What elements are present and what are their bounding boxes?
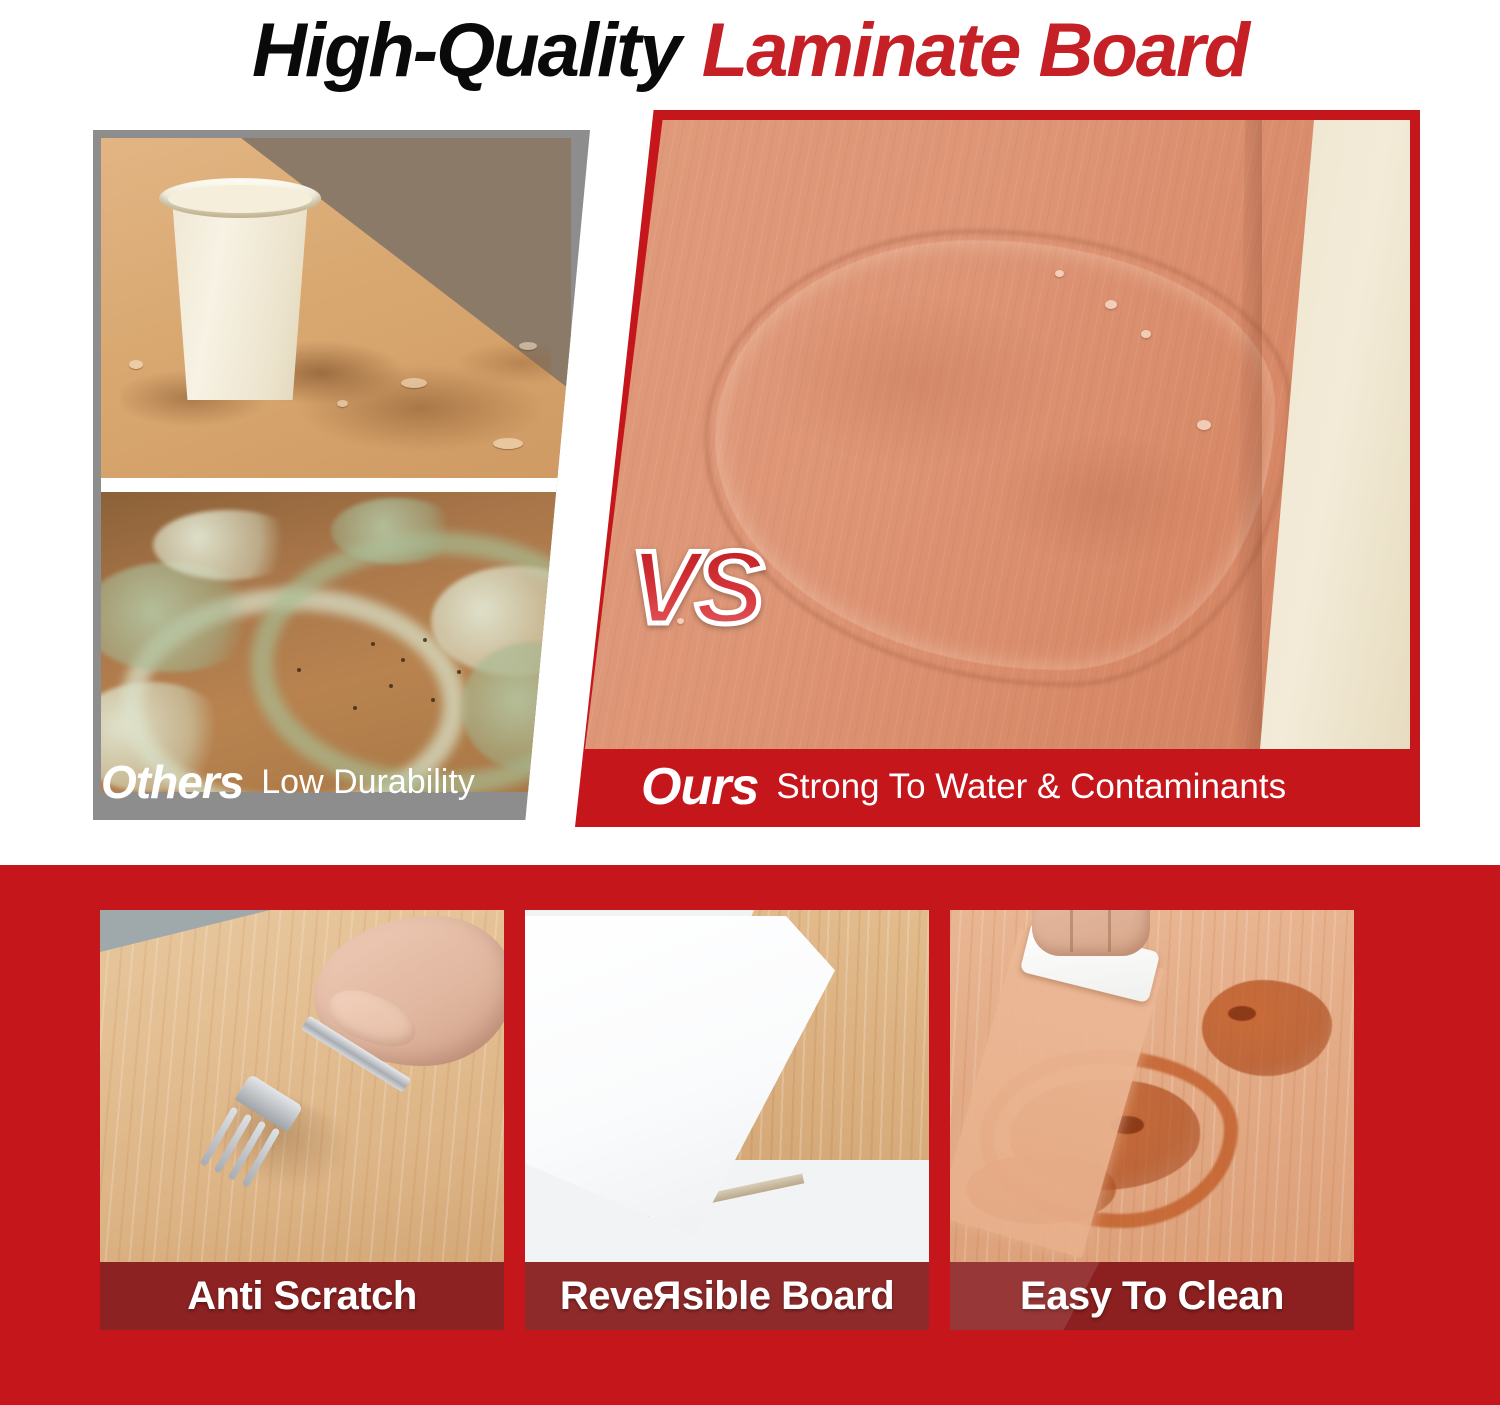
photo-divider: [101, 478, 571, 492]
product-infographic: High-Quality Laminate Board: [0, 0, 1500, 1405]
mirrored-r-glyph: R: [653, 1274, 681, 1319]
page-title: High-Quality Laminate Board: [0, 0, 1500, 100]
paper-cup-rim: [159, 178, 321, 218]
feature-caption-text: Easy To Clean: [1020, 1274, 1284, 1319]
water-bead: [1141, 330, 1151, 338]
feature-card-easy-to-clean: Easy To Clean: [950, 910, 1354, 1330]
two-sided-board-photo: [525, 910, 929, 1262]
feature-caption: Anti Scratch: [100, 1262, 504, 1330]
mold-patch: [153, 510, 303, 580]
paper-cup: [167, 190, 313, 400]
feature-card-reversible-board: ReveRsible Board: [525, 910, 929, 1330]
water-droplet: [337, 400, 348, 407]
page-title-part2: Laminate Board: [702, 7, 1248, 94]
water-droplet: [493, 438, 523, 449]
vs-badge: VS: [600, 528, 790, 648]
sauce-chunk: [1228, 1006, 1256, 1021]
water-droplet: [401, 378, 427, 388]
water-spill-on-particleboard-photo: [101, 138, 571, 478]
features-grid: Anti Scratch ReveRsible Board: [100, 910, 1410, 1330]
mold-growth-on-damp-board-photo: [101, 492, 571, 792]
feature-card-anti-scratch: Anti Scratch: [100, 910, 504, 1330]
ours-label: Ours: [641, 757, 758, 817]
water-droplet: [519, 342, 537, 350]
water-bead: [1197, 420, 1211, 430]
others-caption: Others Low Durability: [101, 752, 571, 812]
hand-fingers: [1032, 910, 1150, 956]
water-droplet: [129, 360, 143, 369]
page-title-part1: High-Quality: [252, 7, 680, 94]
ours-panel: Ours Strong To Water & Contaminants: [575, 110, 1420, 827]
ours-description: Strong To Water & Contaminants: [776, 767, 1286, 807]
ours-caption: Ours Strong To Water & Contaminants: [585, 755, 1410, 819]
others-description: Low Durability: [261, 763, 475, 802]
wiping-sauce-spill-photo: [950, 910, 1354, 1262]
water-bead: [1055, 270, 1064, 277]
feature-caption-text: Anti Scratch: [187, 1274, 417, 1319]
feature-caption-suffix: sible Board: [682, 1274, 894, 1319]
mold-patch: [331, 498, 461, 564]
features-section: Anti Scratch ReveRsible Board: [0, 865, 1500, 1405]
water-beading-on-laminate-surface-photo: [585, 120, 1410, 749]
others-photos: [101, 138, 582, 820]
feature-caption: Easy To Clean: [950, 1262, 1354, 1330]
water-bead: [1105, 300, 1117, 309]
others-panel: Others Low Durability: [93, 130, 590, 820]
others-label: Others: [101, 755, 243, 809]
feature-caption: ReveRsible Board: [525, 1262, 929, 1330]
fork-scratch-test-photo: [100, 910, 504, 1262]
feature-caption-prefix: Reve: [560, 1274, 654, 1319]
comparison-section: Others Low Durability Ours: [0, 104, 1500, 834]
